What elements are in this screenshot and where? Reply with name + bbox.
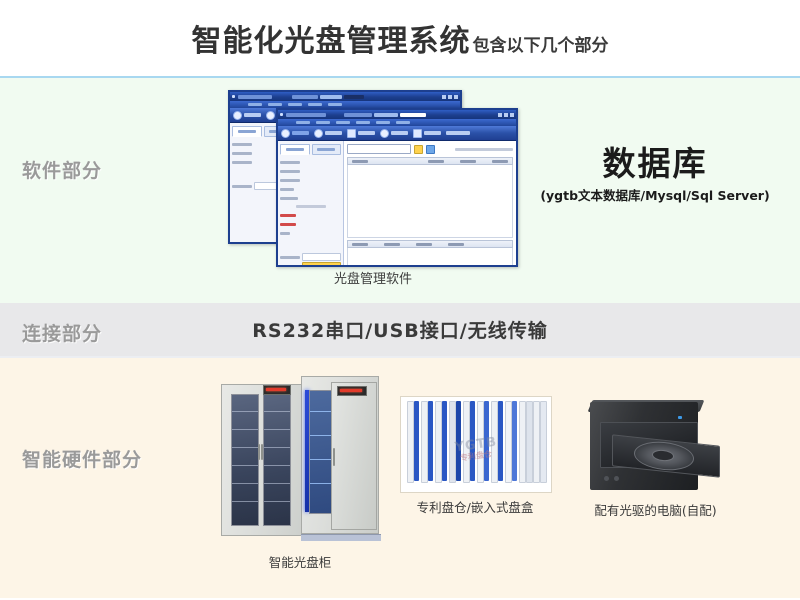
toolbar-button[interactable] <box>314 129 342 138</box>
folder-icon[interactable] <box>414 145 423 154</box>
field-label-required <box>280 223 296 226</box>
column-header[interactable] <box>352 243 368 246</box>
minimize-icon[interactable] <box>498 113 502 117</box>
menu-item[interactable] <box>248 103 262 106</box>
toolbar-label <box>358 131 375 135</box>
menu-item[interactable] <box>396 121 410 124</box>
form-row <box>280 229 341 237</box>
form-row <box>280 158 341 166</box>
toolbar-label <box>244 113 261 117</box>
sidebar-tabs[interactable] <box>280 144 341 155</box>
form-row <box>280 176 341 184</box>
field-label <box>232 161 252 164</box>
title-chip <box>374 113 398 117</box>
field-label-required <box>280 214 296 217</box>
disc-magazine-photo: YGTB 专利盘仓 <box>400 396 552 493</box>
hardware-caption-magazine: 专利盘仓/嵌入式盘盒 <box>400 497 550 516</box>
column-header[interactable] <box>460 160 476 163</box>
highlighted-input[interactable] <box>302 262 341 267</box>
disc-in-icon <box>233 111 242 120</box>
maximize-icon[interactable] <box>504 113 508 117</box>
window-content <box>344 141 516 267</box>
search-input[interactable] <box>347 144 411 154</box>
section-connection: 连接部分 RS232串口/USB接口/无线传输 <box>0 303 800 358</box>
toolbar-button[interactable] <box>413 129 441 138</box>
section-hardware: 智能硬件部分 <box>0 358 800 598</box>
menu-item[interactable] <box>308 103 322 106</box>
search-bar[interactable] <box>347 144 513 154</box>
toolbar-label <box>325 131 342 135</box>
refresh-icon[interactable] <box>426 145 435 154</box>
form-row <box>280 211 341 219</box>
database-title: 数据库 <box>520 146 790 182</box>
field-label <box>280 188 294 191</box>
hardware-caption-pc: 配有光驱的电脑(自配) <box>578 500 733 519</box>
window-title-text <box>238 95 442 99</box>
field-label <box>232 152 252 155</box>
minimize-icon[interactable] <box>442 95 446 99</box>
disc-query-icon <box>347 129 356 138</box>
title-chip <box>344 95 364 99</box>
power-led-icon <box>678 416 682 419</box>
column-header[interactable] <box>448 243 464 246</box>
column-header[interactable] <box>428 160 444 163</box>
hardware-item-cabinet: 智能光盘柜 <box>205 370 395 571</box>
toolbar-button[interactable] <box>281 129 309 138</box>
title-chip <box>400 113 426 117</box>
title-chip <box>238 95 272 99</box>
page-header: 智能化光盘管理系统 包含以下几个部分 <box>0 0 800 78</box>
field-label <box>280 232 290 235</box>
tab-label <box>317 148 335 151</box>
toolbar-button[interactable] <box>380 129 408 138</box>
field-label <box>232 143 252 146</box>
settings-icon <box>380 129 389 138</box>
page-title-sub: 包含以下几个部分 <box>473 31 609 56</box>
software-screenshot-stack <box>228 90 518 265</box>
close-icon[interactable] <box>454 95 458 99</box>
text-input[interactable] <box>302 253 341 261</box>
tab-primary[interactable] <box>280 144 310 155</box>
window-titlebar <box>230 92 460 101</box>
field-label <box>280 170 300 173</box>
disc-cabinet-photo <box>205 370 395 548</box>
poster-page: 智能化光盘管理系统 包含以下几个部分 软件部分 <box>0 0 800 600</box>
pc-with-optical-drive-photo <box>578 396 733 496</box>
menu-item[interactable] <box>288 103 302 106</box>
window-controls[interactable] <box>442 95 458 99</box>
disc-out-icon <box>314 129 323 138</box>
column-header[interactable] <box>416 243 432 246</box>
cabinet-base <box>301 534 381 541</box>
cabinet-left-handle-b[interactable] <box>261 444 263 460</box>
title-chip <box>292 95 318 99</box>
menu-item[interactable] <box>296 121 310 124</box>
field-label <box>280 265 300 268</box>
disc-in-icon <box>281 129 290 138</box>
table-body-lower[interactable] <box>347 248 513 267</box>
cabinet-right-handle[interactable] <box>333 448 335 466</box>
title-chip <box>286 113 326 117</box>
window-title-text <box>286 113 498 117</box>
cabinet-left-led-display <box>263 385 291 395</box>
menu-item[interactable] <box>336 121 350 124</box>
close-icon[interactable] <box>510 113 514 117</box>
tab-secondary[interactable] <box>312 144 342 155</box>
hardware-item-magazine: YGTB 专利盘仓 专利盘仓/嵌入式盘盒 <box>400 396 550 516</box>
hardware-caption-cabinet: 智能光盘柜 <box>205 552 395 571</box>
software-window-front[interactable] <box>276 108 518 267</box>
window-sidebar <box>278 141 344 267</box>
title-chip <box>344 113 372 117</box>
menu-item[interactable] <box>268 103 282 106</box>
window-toolbar[interactable] <box>278 126 516 141</box>
hardware-items: 智能光盘柜 <box>0 358 800 598</box>
tab-primary[interactable] <box>232 126 262 137</box>
disc-out-icon <box>266 111 275 120</box>
toolbar-button[interactable] <box>446 131 470 135</box>
form-row <box>280 185 341 193</box>
section-software: 软件部分 <box>0 78 800 303</box>
window-body <box>278 141 516 267</box>
spacer <box>280 238 341 252</box>
window-controls[interactable] <box>498 113 514 117</box>
field-label <box>280 179 300 182</box>
info-note <box>296 205 326 208</box>
table-body-upper[interactable] <box>347 165 513 238</box>
field-label <box>280 256 300 259</box>
menu-item[interactable] <box>356 121 370 124</box>
form-row[interactable] <box>280 253 341 261</box>
field-label <box>280 197 298 200</box>
page-title: 智能化光盘管理系统 包含以下几个部分 <box>192 16 609 60</box>
power-button[interactable] <box>604 476 609 481</box>
software-screenshot-caption: 光盘管理软件 <box>228 268 518 287</box>
column-header[interactable] <box>492 160 508 163</box>
table-header-lower <box>347 240 513 248</box>
database-subtitle: (ygtb文本数据库/Mysql/Sql Server) <box>520 185 790 204</box>
window-menubar[interactable] <box>278 119 516 126</box>
field-label <box>232 185 252 188</box>
hardware-item-pc: 配有光驱的电脑(自配) <box>578 396 733 519</box>
toolbar-label <box>391 131 408 135</box>
section-label-software: 软件部分 <box>22 156 102 183</box>
toolbar-button[interactable] <box>347 129 375 138</box>
form-row[interactable] <box>280 262 341 267</box>
menu-item[interactable] <box>328 103 342 106</box>
reset-button[interactable] <box>614 476 619 481</box>
form-row <box>280 194 341 202</box>
tab-label <box>286 148 304 151</box>
window-menubar[interactable] <box>230 101 460 108</box>
toolbar-button[interactable] <box>233 111 261 120</box>
form-row <box>280 167 341 175</box>
page-title-main: 智能化光盘管理系统 <box>192 16 471 60</box>
toolbar-label <box>292 131 309 135</box>
toolbar-label <box>424 131 441 135</box>
search-icon <box>413 129 422 138</box>
menu-item[interactable] <box>376 121 390 124</box>
window-icon <box>280 113 283 116</box>
field-label <box>280 161 300 164</box>
toolbar-label <box>446 131 470 135</box>
window-titlebar <box>278 110 516 119</box>
form-row <box>280 220 341 228</box>
cabinet-left-glass-door-a <box>231 394 259 526</box>
menu-item[interactable] <box>316 121 330 124</box>
table-header <box>347 157 513 165</box>
cabinet-right-door[interactable] <box>331 382 377 530</box>
maximize-icon[interactable] <box>448 95 452 99</box>
column-header[interactable] <box>384 243 400 246</box>
cabinet-right-led-display <box>337 386 367 396</box>
window-icon <box>232 95 235 98</box>
database-block: 数据库 (ygtb文本数据库/Mysql/Sql Server) <box>520 146 790 204</box>
cabinet-left-handle[interactable] <box>258 444 260 460</box>
connection-text: RS232串口/USB接口/无线传输 <box>0 303 800 356</box>
title-chip <box>320 95 342 99</box>
cabinet-left-glass-door-b <box>263 394 291 526</box>
column-header[interactable] <box>352 160 368 163</box>
cabinet-right-open-interior <box>309 390 333 514</box>
status-text <box>455 148 513 151</box>
tab-label <box>238 130 256 133</box>
